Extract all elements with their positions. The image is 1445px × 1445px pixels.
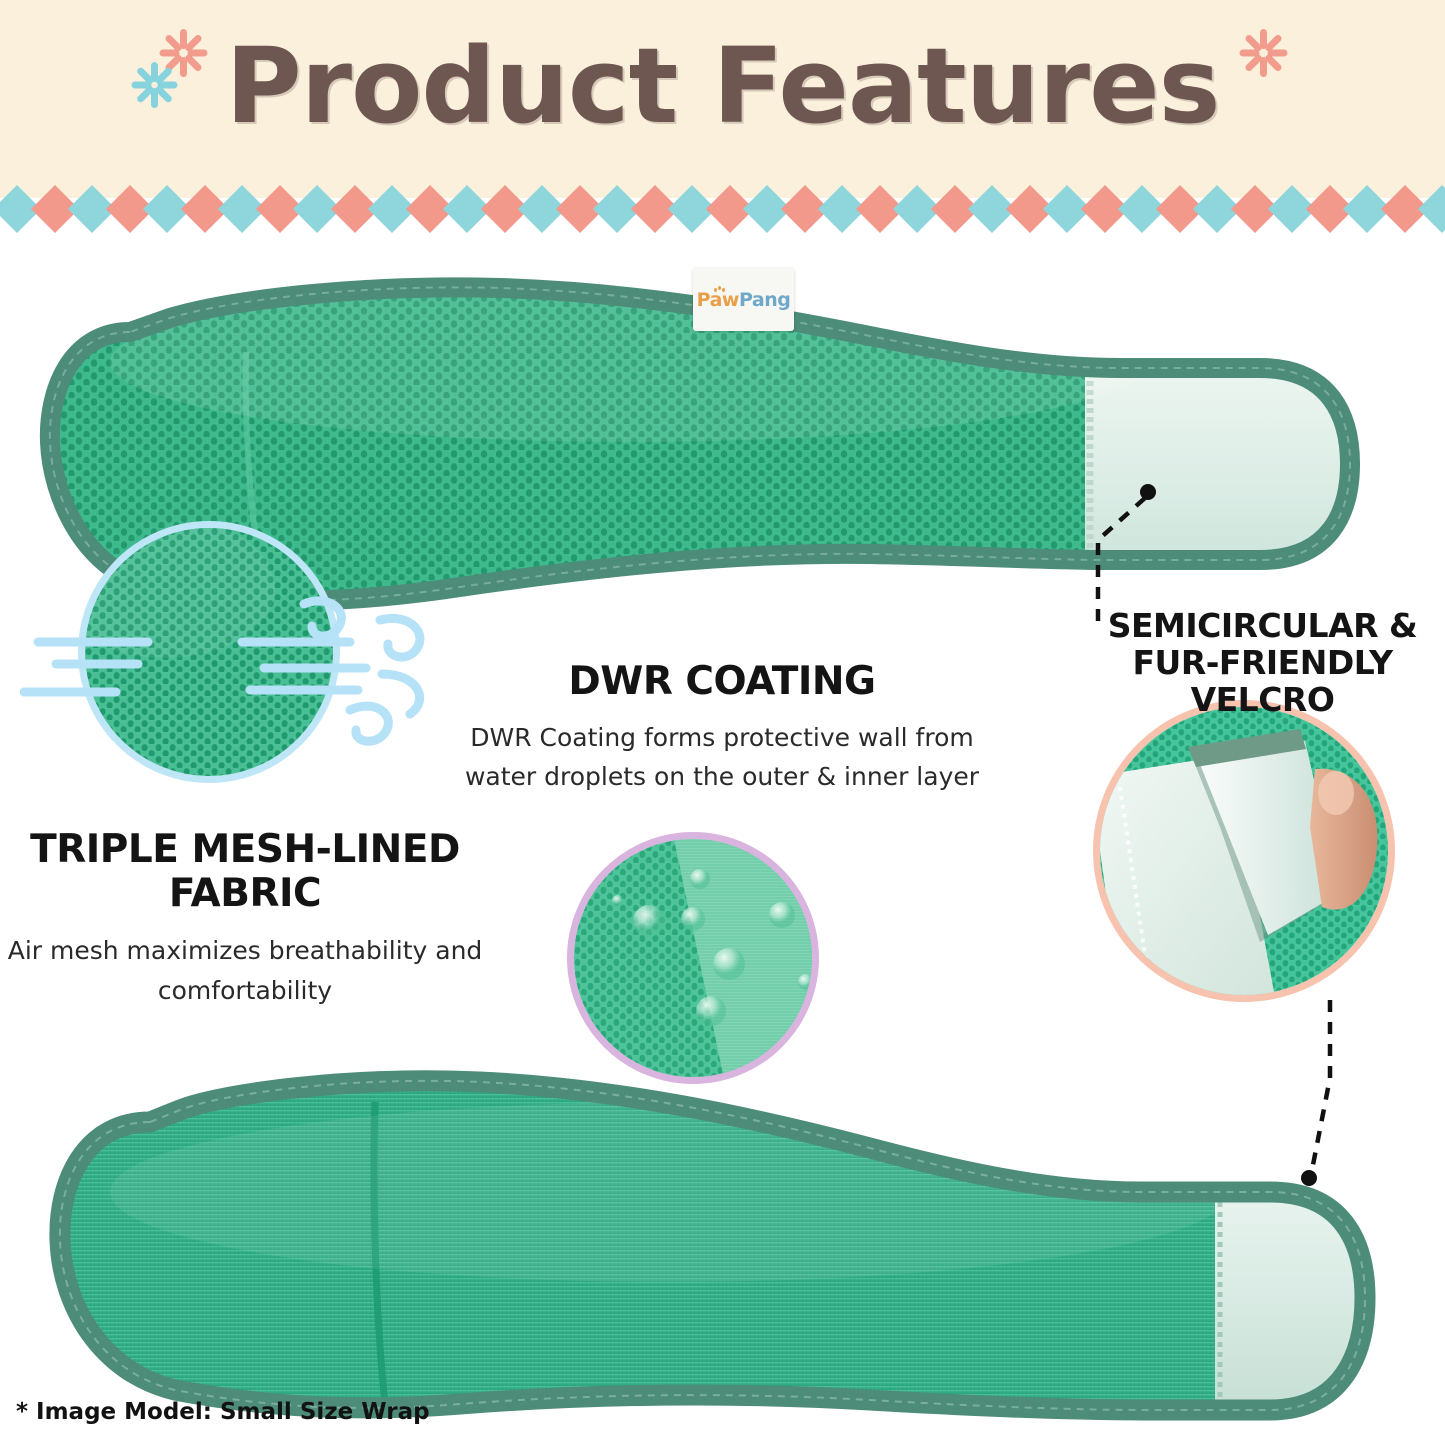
detail-circle-dwr — [567, 832, 819, 1084]
feature-block-dwr: DWR COATING DWR Coating forms protective… — [432, 660, 1012, 797]
bottom-wrap-image — [30, 1042, 1380, 1442]
connector-velcro-bottom — [1270, 1000, 1380, 1210]
brand-label: PawPang — [693, 268, 794, 331]
feature-heading-triple-mesh: TRIPLE MESH-LINED FABRIC — [0, 828, 490, 915]
feature-heading-dwr: DWR COATING — [432, 660, 1012, 704]
wind-airflow-icon — [20, 590, 440, 770]
paw-print-icon — [714, 286, 727, 295]
diamond-teal — [1418, 185, 1445, 233]
brand-pang-text: Pang — [739, 289, 790, 311]
feature-body-dwr: DWR Coating forms protective wall from w… — [432, 718, 1012, 797]
feature-block-velcro: SEMICIRCULAR & FUR-FRIENDLY VELCRO — [1080, 608, 1445, 719]
feature-body-triple-mesh: Air mesh maximizes breathability and com… — [0, 931, 490, 1010]
diamond-divider — [0, 186, 1445, 232]
feature-heading-velcro: SEMICIRCULAR & FUR-FRIENDLY VELCRO — [1080, 608, 1445, 719]
page-title: Product Features — [0, 34, 1445, 138]
feature-block-triple-mesh: TRIPLE MESH-LINED FABRIC Air mesh maximi… — [0, 828, 490, 1010]
detail-circle-velcro — [1093, 700, 1395, 1002]
footnote-image-model: * Image Model: Small Size Wrap — [16, 1399, 430, 1425]
